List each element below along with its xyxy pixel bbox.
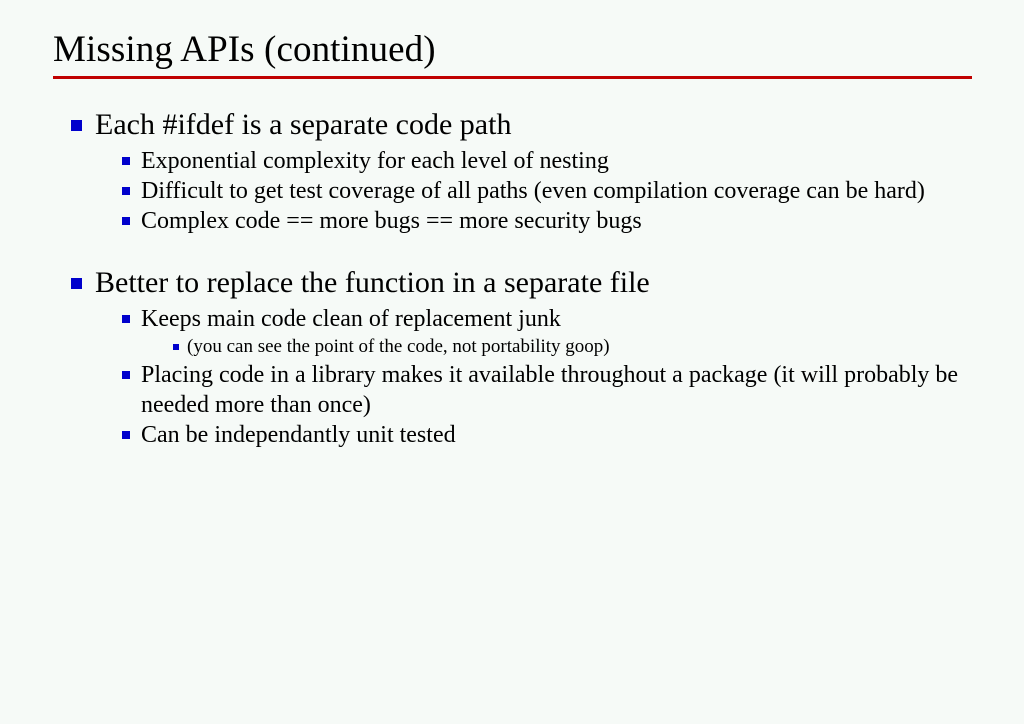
square-bullet-icon	[122, 431, 130, 439]
bullet-text-level-2: Placing code in a library makes it avail…	[141, 360, 961, 420]
bullet-text-level-2: Exponential complexity for each level of…	[141, 146, 961, 176]
bullet-text-level-2: Can be independantly unit tested	[141, 420, 961, 450]
title-underline-rule	[53, 76, 972, 79]
page-title: Missing APIs (continued)	[53, 28, 973, 72]
bullet-text-level-2: Keeps main code clean of replacement jun…	[141, 304, 961, 334]
square-bullet-icon	[122, 187, 130, 195]
square-bullet-icon	[71, 120, 82, 131]
slide-title-block: Missing APIs (continued)	[53, 28, 973, 72]
square-bullet-icon	[122, 315, 130, 323]
slide-body: Each #ifdef is a separate code path Expo…	[0, 106, 1024, 450]
list-item: Better to replace the function in a sepa…	[0, 264, 1024, 450]
square-bullet-icon	[173, 344, 179, 350]
bullet-list-level-2: Keeps main code clean of replacement jun…	[95, 304, 1024, 450]
list-item: Exponential complexity for each level of…	[95, 146, 1024, 176]
square-bullet-icon	[122, 157, 130, 165]
bullet-list-level-1: Each #ifdef is a separate code path Expo…	[0, 106, 1024, 450]
square-bullet-icon	[71, 278, 82, 289]
list-item: Keeps main code clean of replacement jun…	[95, 304, 1024, 360]
list-item: Can be independantly unit tested	[95, 420, 1024, 450]
slide: Missing APIs (continued) Each #ifdef is …	[0, 0, 1024, 724]
list-item: Complex code == more bugs == more securi…	[95, 206, 1024, 236]
list-item: Each #ifdef is a separate code path Expo…	[0, 106, 1024, 236]
list-item: Placing code in a library makes it avail…	[95, 360, 1024, 420]
bullet-text-level-1: Each #ifdef is a separate code path	[95, 106, 1024, 144]
list-item: (you can see the point of the code, not …	[141, 334, 1024, 360]
bullet-list-level-3: (you can see the point of the code, not …	[141, 334, 1024, 360]
bullet-text-level-1: Better to replace the function in a sepa…	[95, 264, 1024, 302]
bullet-list-level-2: Exponential complexity for each level of…	[95, 146, 1024, 236]
bullet-text-level-2: Complex code == more bugs == more securi…	[141, 206, 961, 236]
bullet-text-level-2: Difficult to get test coverage of all pa…	[141, 176, 961, 206]
list-item: Difficult to get test coverage of all pa…	[95, 176, 1024, 206]
square-bullet-icon	[122, 371, 130, 379]
bullet-text-level-3: (you can see the point of the code, not …	[173, 334, 1024, 360]
square-bullet-icon	[122, 217, 130, 225]
